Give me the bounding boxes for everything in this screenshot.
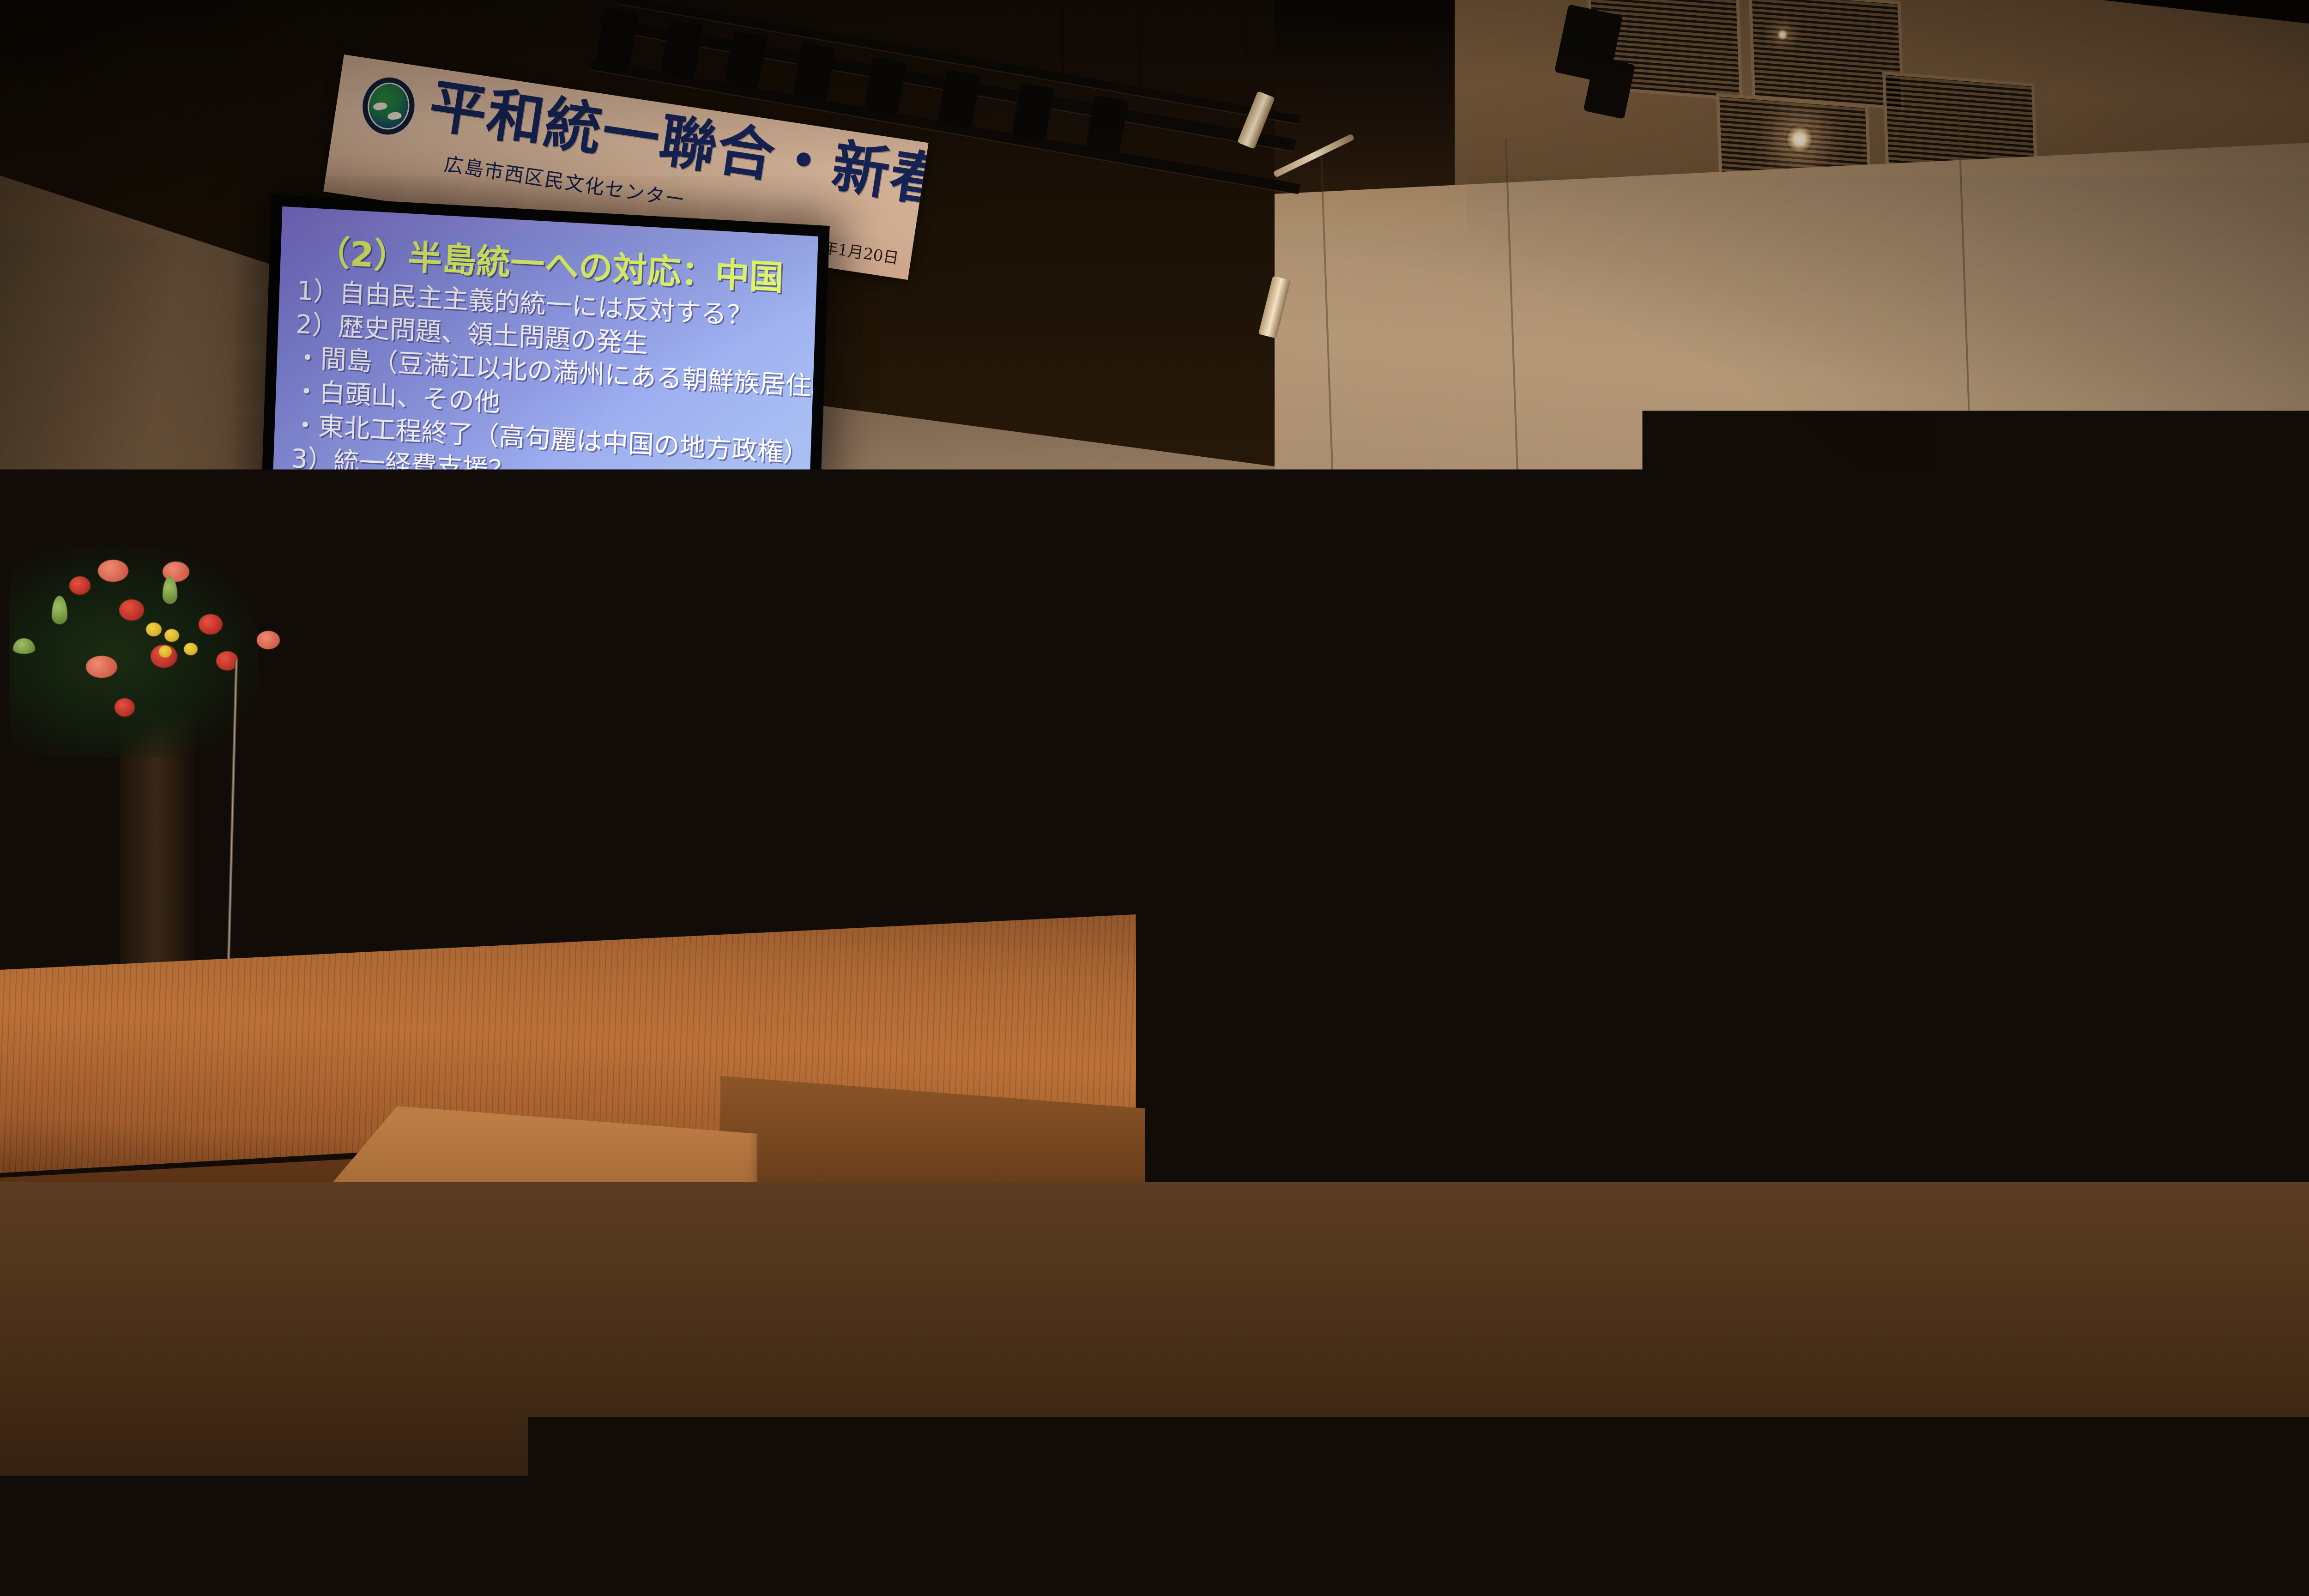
audience-head [1492,906,1521,940]
seat-welt [172,1517,336,1518]
seat-welt [361,1517,526,1518]
audience-head [1068,1225,1118,1283]
slide-content: （2）半島統一への対応：中国 1）自由民主主義的統一には反対する？2）歴史問題、… [268,206,818,639]
audience-head [1817,1013,1853,1055]
audience-head [1868,1313,1925,1379]
auditorium-seat[interactable] [0,1510,148,1596]
seat-welt [507,1392,643,1394]
projection-screen: 統 （2）半島統一への対応：中国 1）自由民主主義的統一には反対する？2）歴史問… [251,195,829,822]
seat-crown [168,1503,340,1518]
audience-head [1931,897,1961,931]
audience-head [1759,1304,1816,1370]
microphone [1376,720,1388,747]
audience-head [1060,1136,1104,1188]
audience-head [1555,902,1585,937]
seat-welt [717,1189,814,1191]
audience-head [1748,906,1777,940]
seat-welt [666,1392,803,1394]
auditorium-scene: 平和統一聯合・新春講演会 広島市西区民文化センター 2015年1月20日 統 （… [0,0,2309,1596]
audience-head [1540,859,1566,891]
auditorium-seat[interactable] [734,1275,850,1374]
audience-head [1951,850,1977,881]
audience-head [1273,1215,1323,1273]
audience-head [2054,813,2079,841]
auditorium-seat[interactable] [254,1182,353,1268]
seat-welt [188,1392,325,1394]
audience-head [1531,1401,1597,1478]
ceiling-grille [1748,0,1904,110]
audience-head [2137,856,2164,887]
seat-crown [463,1267,585,1283]
audience-head [1656,813,1680,841]
audience-head [1755,1219,1805,1277]
audience-head [868,1301,925,1367]
audience-head [1467,1072,1506,1118]
audience-head [1538,818,1563,846]
audience-head [1320,1145,1365,1197]
audience-head [1848,1214,1898,1272]
seat-number-plate: 4列7 [641,1272,675,1288]
audience-head [1678,899,1707,933]
seat-number-plate: 5列5 [866,1179,896,1193]
audience-head [1940,1075,1979,1121]
seat-crown [357,1503,530,1518]
auditorium-seat[interactable]: 4列5 [600,1182,700,1268]
audience-head [1428,849,1455,881]
auditorium-seat[interactable]: 4列7 [600,1275,716,1374]
audience-head [2251,1071,2291,1117]
flower-bloom [98,560,128,582]
seat-number-plate: 6列3 [374,1272,407,1288]
audience-head [1020,1406,1086,1483]
auditorium-seat[interactable] [360,1510,526,1596]
audience-head [1561,1214,1611,1272]
audience-head [1376,1074,1415,1120]
audience-head [1662,1220,1711,1278]
speaker-hair [1104,634,1149,659]
audience-head [1319,1312,1376,1379]
audience-head [1095,1305,1153,1371]
audience-head [1476,849,1503,881]
microphone [1527,717,1539,744]
audience-head [2034,1009,2070,1051]
auditorium-seat[interactable]: 6列3 [332,1275,448,1374]
audience-head [2162,814,2187,842]
seat-crown [482,1175,587,1191]
audience-head [1698,1070,1737,1116]
seat-welt [199,1281,313,1283]
auditorium-seat[interactable]: 3列3 [65,1275,180,1374]
audience-head [1365,949,1397,986]
seat-welt [0,1517,147,1518]
audience-head [1657,853,1684,885]
seat-crown [713,1175,818,1191]
seat-crown [24,1378,169,1394]
auditorium-seat[interactable] [187,1385,326,1505]
seat-crown [343,1378,488,1394]
audience-head [2056,902,2086,936]
audience-head [1861,1067,1900,1113]
flower-bloom [69,576,91,595]
flower-bloom [159,646,172,658]
audience-head [1519,1009,1555,1051]
audience-head [1602,809,1627,837]
globe-doves-logo [359,74,418,138]
audience-head [977,1306,1034,1373]
seat-crown [195,1267,317,1283]
auditorium-seat[interactable] [466,1275,582,1374]
slide-bullet-list: 1）自由民主主義的統一には反対する？2）歴史問題、領土問題の発生・間島（豆満江以… [286,274,800,638]
podium-logo-plate [1114,860,1173,910]
audience-head [2250,1004,2286,1045]
seat-number-plate: 4列3 [173,1179,204,1193]
auditorium-seat[interactable]: 5列3 [369,1182,469,1268]
auditorium-seat[interactable] [28,1385,166,1505]
audience-head [1534,1310,1591,1376]
audience-head [1660,1408,1725,1484]
audience-head [1311,1068,1350,1114]
audience-head [1615,1072,1655,1118]
audience-head [2185,858,2212,889]
seat-number-plate: 3列3 [106,1272,139,1288]
audience-head [1771,808,1795,837]
audience-head [898,1399,964,1475]
audience-head [2099,1075,2139,1121]
seat-crown [502,1378,647,1394]
flower-bloom [146,623,162,636]
globe-doves-logo [1124,865,1163,904]
presentation-slide: 統 （2）半島統一への対応：中国 1）自由民主主義的統一には反対する？2）歴史問… [262,206,818,807]
auditorium-seat[interactable] [485,1182,584,1268]
rig-cable [1062,0,1064,79]
audience-head [1783,854,1809,885]
audience-head [1374,1010,1410,1051]
auditorium-seat[interactable] [716,1182,815,1268]
audience-head [2025,1140,2069,1191]
audience-head [1765,1140,1809,1191]
audience-head [1170,1217,1220,1275]
auditorium-seat[interactable]: 4列3 [139,1182,238,1268]
auditorium-seat[interactable] [171,1510,337,1596]
audience-head [1622,901,1651,935]
audience-head [2209,1136,2254,1188]
seat-crown [662,1378,807,1394]
seat-welt [550,1517,715,1518]
audience-head [1839,853,1866,884]
audience-head [1971,947,2004,985]
audience-head [1273,1399,1338,1475]
audience-head [1645,951,1678,989]
flower-bloom [184,643,198,655]
ceiling-downlight [1785,125,1814,153]
seat-welt [735,1281,849,1283]
audience-head [1828,817,1853,846]
seat-number-plate: 4列5 [635,1179,665,1193]
audience-head [1542,1071,1582,1117]
audience-head [1599,854,1626,886]
auditorium-seat[interactable] [199,1275,314,1374]
audience-head [1892,856,1918,887]
seat-welt [347,1392,484,1394]
audience-head [1914,949,1946,987]
audience-head [1801,902,1831,937]
audience-head [2180,903,2210,937]
audience-head [1137,1405,1203,1481]
podium-trim [1076,849,1211,854]
audience-head [2247,850,2274,882]
audience-head [1941,1218,1991,1276]
audience-head [1993,813,2018,841]
auditorium-seat[interactable] [506,1385,644,1505]
auditorium-seat[interactable] [346,1385,485,1505]
audience-head [1596,1010,1632,1052]
audience-head [2243,954,2275,992]
audience-head [1455,1012,1491,1053]
audience-head [2069,851,2096,883]
audience-head [1361,897,1390,931]
audience-head [1679,1146,1723,1198]
audience-head [2220,818,2245,846]
audience-head [1719,860,1746,891]
audience-head [2175,1076,2215,1122]
flower-bloom [86,656,117,678]
audience-head [1308,1005,1344,1047]
flower-bloom [119,599,144,621]
seat-crown [184,1378,329,1394]
audience-head [2112,954,2145,992]
audience-head [1717,818,1742,847]
seat-crown [0,1503,151,1518]
seat-welt [467,1281,581,1283]
seat-welt [255,1189,352,1191]
audience-head [2037,948,2069,986]
audience-head [2104,1005,2140,1047]
audience-head [1587,1136,1631,1187]
audience-head [1961,1011,1997,1053]
stage-floral-arrangement [9,545,259,757]
audience-head [2118,899,2147,933]
audience-head [2249,903,2278,937]
audience-head [964,1223,1014,1282]
auditorium-seat[interactable]: 5列5 [831,1182,931,1268]
audience-head [2042,1224,2092,1282]
seat-welt [29,1392,165,1394]
audience-head [1443,945,1475,983]
audience-head [1660,1006,1696,1047]
rig-cable [1247,0,1248,55]
auditorium-seat[interactable] [550,1510,716,1596]
flower-bloom [257,631,280,649]
audience-head [2016,860,2043,891]
audience-head [2112,816,2137,845]
audience-head [1227,1067,1267,1113]
audience-head [1786,1068,1825,1114]
audience-head [2176,946,2208,984]
audience-head [1304,950,1336,988]
audience-head [1736,1005,1772,1047]
audience-head [1636,1307,1693,1373]
audience-head [1503,1138,1547,1190]
audience-head [1147,1139,1191,1191]
audience-head [1227,1015,1263,1057]
audience-head [1875,904,1905,938]
emergency-exit-sign [993,532,1020,561]
rig-cable [1140,0,1141,92]
audience-head [1453,1217,1503,1275]
audience-head [1884,1007,1920,1049]
flower-bloom [115,698,135,717]
flower-bloom [164,629,179,642]
audience-head [1847,949,1879,987]
audience-head [1711,952,1744,990]
audience-head [2173,1004,2209,1046]
audience-head [1861,1145,1905,1197]
audience-head [1231,1143,1275,1194]
speaker-hand [1205,682,1227,698]
audience-head [1420,1146,1464,1197]
audience-head [1998,897,2028,931]
audience-head [1567,954,1600,992]
audience-head [1406,1401,1472,1477]
ceiling-downlight [1777,29,1789,41]
audience-head [1150,1069,1190,1115]
audience-head [1359,1214,1408,1272]
audience-head [1492,816,1517,845]
seat-crown [251,1175,357,1191]
audience-head [1935,1138,1980,1190]
audience-head [1880,811,1905,840]
seat-crown [546,1503,719,1518]
audience-head [1427,901,1457,935]
flower-bloom [199,614,223,635]
audience-head [2279,814,2304,842]
seat-number-plate: 5列3 [404,1179,435,1193]
audience-head [2113,1139,2157,1191]
audience-head [1499,947,1531,985]
audience-head [1943,812,1968,841]
audience-head [1195,1308,1252,1375]
auditorium-seat[interactable] [665,1385,804,1505]
floor-microphone [221,647,245,661]
seat-crown [731,1267,853,1283]
audience-head [1773,952,1805,990]
audience-head [1411,1303,1468,1369]
audience-head [2023,1065,2062,1112]
seat-welt [486,1189,583,1191]
